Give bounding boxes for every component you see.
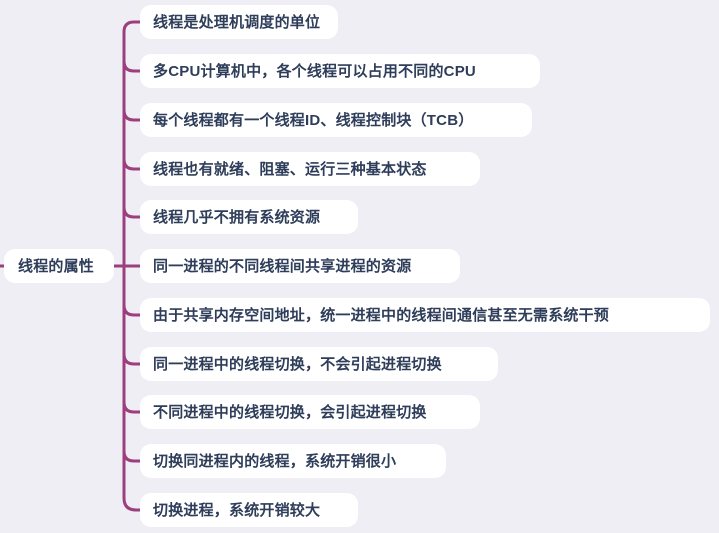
mindmap-node-8-label: 同一进程中的线程切换，不会引起进程切换: [153, 357, 442, 372]
mindmap-node-9[interactable]: 不同进程中的线程切换，会引起进程切换: [140, 395, 480, 429]
mindmap-node-10[interactable]: 切换同进程内的线程，系统开销很小: [140, 444, 446, 478]
mindmap-canvas: 线程的属性 线程是处理机调度的单位 多CPU计算机中，各个线程可以占用不同的CP…: [0, 0, 719, 533]
mindmap-node-2[interactable]: 多CPU计算机中，各个线程可以占用不同的CPU: [140, 54, 540, 88]
mindmap-node-3[interactable]: 每个线程都有一个线程ID、线程控制块（TCB）: [140, 103, 532, 137]
mindmap-node-3-label: 每个线程都有一个线程ID、线程控制块（TCB）: [153, 113, 473, 128]
mindmap-node-1[interactable]: 线程是处理机调度的单位: [140, 5, 338, 39]
root-node-label: 线程的属性: [18, 259, 94, 274]
mindmap-node-9-label: 不同进程中的线程切换，会引起进程切换: [153, 405, 427, 420]
mindmap-node-10-label: 切换同进程内的线程，系统开销很小: [153, 454, 396, 469]
mindmap-node-6-label: 同一进程的不同线程间共享进程的资源: [153, 259, 411, 274]
mindmap-node-11-label: 切换进程，系统开销较大: [153, 503, 320, 518]
mindmap-node-7[interactable]: 由于共享内存空间地址，统一进程中的线程间通信甚至无需系统干预: [140, 298, 710, 332]
mindmap-node-4-label: 线程也有就绪、阻塞、运行三种基本状态: [153, 162, 427, 177]
mindmap-node-6[interactable]: 同一进程的不同线程间共享进程的资源: [140, 249, 460, 283]
mindmap-node-4[interactable]: 线程也有就绪、阻塞、运行三种基本状态: [140, 152, 480, 186]
mindmap-node-2-label: 多CPU计算机中，各个线程可以占用不同的CPU: [153, 64, 476, 79]
mindmap-node-5-label: 线程几乎不拥有系统资源: [153, 210, 320, 225]
mindmap-node-7-label: 由于共享内存空间地址，统一进程中的线程间通信甚至无需系统干预: [153, 308, 609, 323]
mindmap-node-1-label: 线程是处理机调度的单位: [153, 15, 320, 30]
root-node[interactable]: 线程的属性: [4, 249, 114, 283]
mindmap-node-5[interactable]: 线程几乎不拥有系统资源: [140, 200, 358, 234]
mindmap-node-11[interactable]: 切换进程，系统开销较大: [140, 493, 358, 527]
mindmap-node-8[interactable]: 同一进程中的线程切换，不会引起进程切换: [140, 347, 498, 381]
